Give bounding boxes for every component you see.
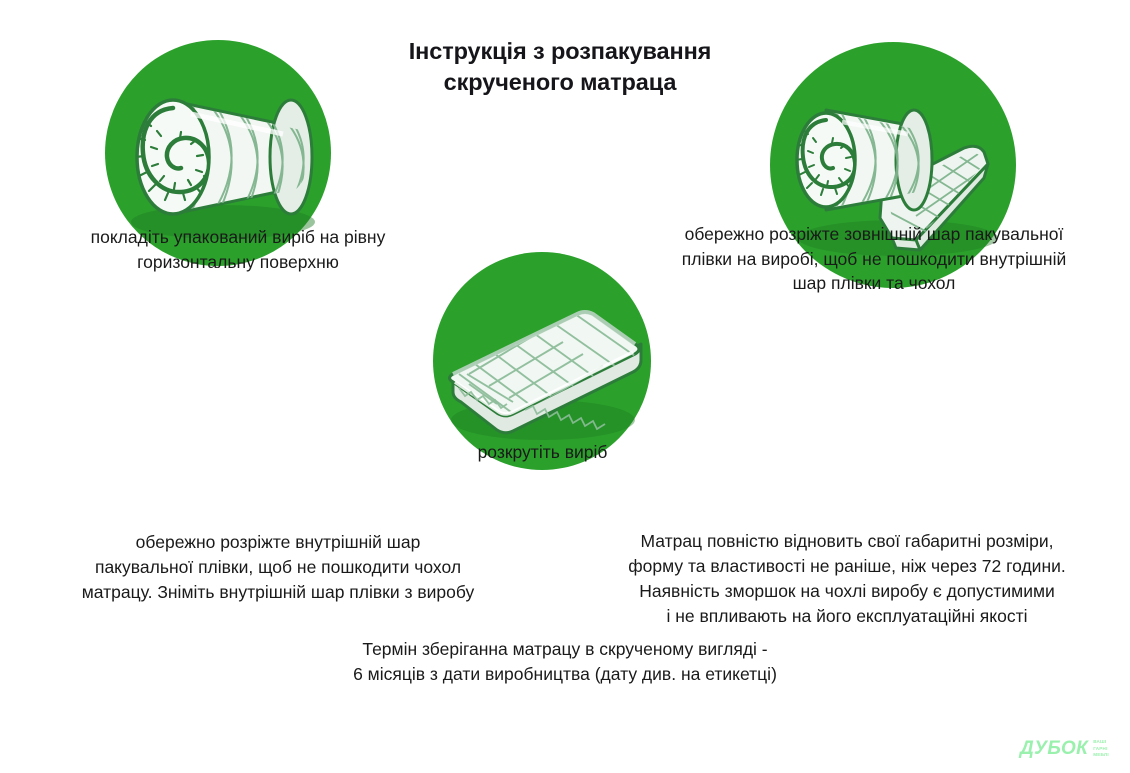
step-2-caption: обережно розріжте зовнішній шар пакуваль… bbox=[628, 222, 1120, 296]
note-inner-film: обережно розріжте внутрішній шар пакувал… bbox=[18, 530, 538, 605]
note-storage-term: Термін зберіганна матрацу в скрученому в… bbox=[255, 637, 875, 687]
step-1-caption: покладіть упакований виріб на рівну гори… bbox=[28, 225, 448, 274]
brand-wordmark: ДУБОК bbox=[1020, 739, 1088, 758]
brand-tagline: ВАШІ ГАРНІ МЕБЛІ bbox=[1093, 739, 1109, 759]
note-recovery-time: Матрац повністю відновить свої габаритні… bbox=[582, 529, 1112, 628]
step-3-caption: розкрутіть виріб bbox=[435, 440, 650, 465]
flat-mattress-icon bbox=[433, 252, 651, 470]
infographic-page: Інструкція з розпакування скрученого мат… bbox=[0, 0, 1130, 773]
page-title: Інструкція з розпакування скрученого мат… bbox=[300, 36, 820, 98]
brand-logo: ДУБОК ВАШІ ГАРНІ МЕБЛІ bbox=[1020, 739, 1109, 759]
